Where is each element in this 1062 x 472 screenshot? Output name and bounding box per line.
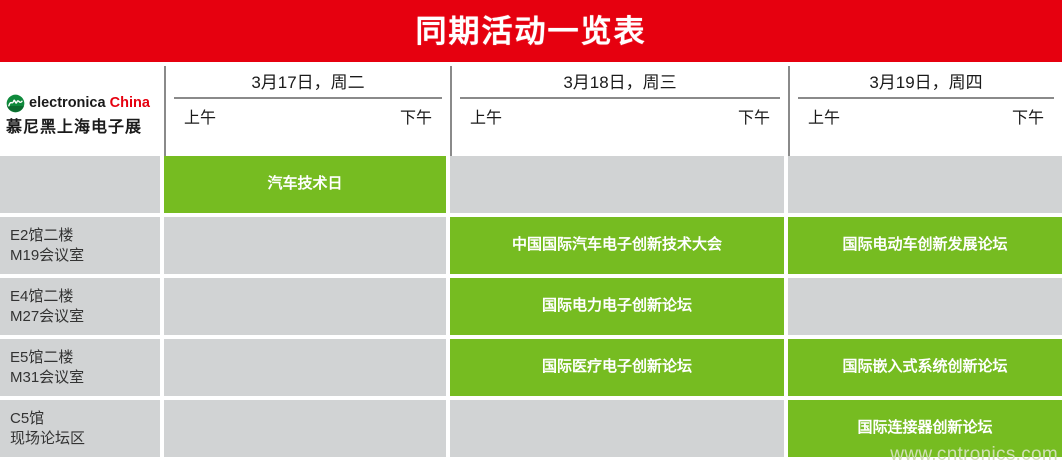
table-header: electronica China 慕尼黑上海电子展 3月17日，周二 上午 下…	[0, 62, 1062, 156]
day-column-1: 3月17日，周二 上午 下午	[164, 66, 450, 156]
table-row: C5馆 现场论坛区 国际连接器创新论坛	[0, 400, 1062, 457]
row-label-1: E2馆二楼 M19会议室	[0, 217, 160, 274]
day-halves-1: 上午 下午	[174, 99, 442, 127]
brand-logo-cell: electronica China 慕尼黑上海电子展	[0, 66, 164, 156]
row-label-1-line2: M19会议室	[10, 248, 84, 263]
event-cell-r4-day1	[164, 400, 446, 457]
day-3-morning-label: 上午	[808, 111, 840, 127]
row-label-1-line1: E2馆二楼	[10, 228, 84, 243]
event-cell-r3-day3[interactable]: 国际嵌入式系统创新论坛	[788, 339, 1062, 396]
event-cell-r0-day3	[788, 156, 1062, 213]
table-row: 汽车技术日	[0, 156, 1062, 213]
event-cell-r1-day1	[164, 217, 446, 274]
day-date-2: 3月18日，周三	[460, 66, 780, 97]
page-title-banner: 同期活动一览表	[0, 0, 1062, 62]
brand-name-chinese: 慕尼黑上海电子展	[6, 119, 142, 135]
row-label-2-line1: E4馆二楼	[10, 289, 84, 304]
day-date-1: 3月17日，周二	[174, 66, 442, 97]
row-label-4-line2: 现场论坛区	[10, 431, 85, 446]
day-1-afternoon-label: 下午	[400, 111, 432, 127]
brand-logo-wordmark: electronica China	[6, 94, 150, 113]
day-2-morning-label: 上午	[470, 111, 502, 127]
event-cell-r4-day3[interactable]: 国际连接器创新论坛	[788, 400, 1062, 457]
event-cell-r1-day3[interactable]: 国际电动车创新发展论坛	[788, 217, 1062, 274]
row-label-0	[0, 156, 160, 213]
table-row: E5馆二楼 M31会议室 国际医疗电子创新论坛 国际嵌入式系统创新论坛	[0, 339, 1062, 396]
row-label-4: C5馆 现场论坛区	[0, 400, 160, 457]
day-column-2: 3月18日，周三 上午 下午	[450, 66, 788, 156]
event-cell-r4-day2	[450, 400, 784, 457]
day-columns: 3月17日，周二 上午 下午 3月18日，周三 上午 下午 3月19日，周四 上…	[164, 66, 1062, 156]
page-title: 同期活动一览表	[416, 16, 647, 47]
row-label-3-line1: E5馆二楼	[10, 350, 84, 365]
day-2-afternoon-label: 下午	[738, 111, 770, 127]
brand-name-primary: electronica	[29, 95, 106, 111]
event-cell-r2-day1	[164, 278, 446, 335]
row-label-4-line1: C5馆	[10, 411, 85, 426]
event-cell-r2-day2[interactable]: 国际电力电子创新论坛	[450, 278, 784, 335]
day-3-afternoon-label: 下午	[1012, 111, 1044, 127]
day-column-3: 3月19日，周四 上午 下午	[788, 66, 1062, 156]
row-label-2-line2: M27会议室	[10, 309, 84, 324]
event-cell-r1-day2[interactable]: 中国国际汽车电子创新技术大会	[450, 217, 784, 274]
event-cell-r0-day2	[450, 156, 784, 213]
electronica-globe-icon	[6, 94, 25, 113]
row-label-3: E5馆二楼 M31会议室	[0, 339, 160, 396]
table-row: E2馆二楼 M19会议室 中国国际汽车电子创新技术大会 国际电动车创新发展论坛	[0, 217, 1062, 274]
day-halves-2: 上午 下午	[460, 99, 780, 127]
event-cell-r3-day1	[164, 339, 446, 396]
brand-name-secondary: China	[110, 95, 150, 111]
event-cell-r2-day3	[788, 278, 1062, 335]
day-date-3: 3月19日，周四	[798, 66, 1054, 97]
day-1-morning-label: 上午	[184, 111, 216, 127]
day-halves-3: 上午 下午	[798, 99, 1054, 127]
event-cell-r3-day2[interactable]: 国际医疗电子创新论坛	[450, 339, 784, 396]
brand-name: electronica China	[29, 96, 150, 111]
row-label-3-line2: M31会议室	[10, 370, 84, 385]
event-cell-r0-day1[interactable]: 汽车技术日	[164, 156, 446, 213]
table-row: E4馆二楼 M27会议室 国际电力电子创新论坛	[0, 278, 1062, 335]
schedule-grid: 汽车技术日 E2馆二楼 M19会议室 中国国际汽车电子创新技术大会 国际电动车创…	[0, 156, 1062, 457]
row-label-2: E4馆二楼 M27会议室	[0, 278, 160, 335]
